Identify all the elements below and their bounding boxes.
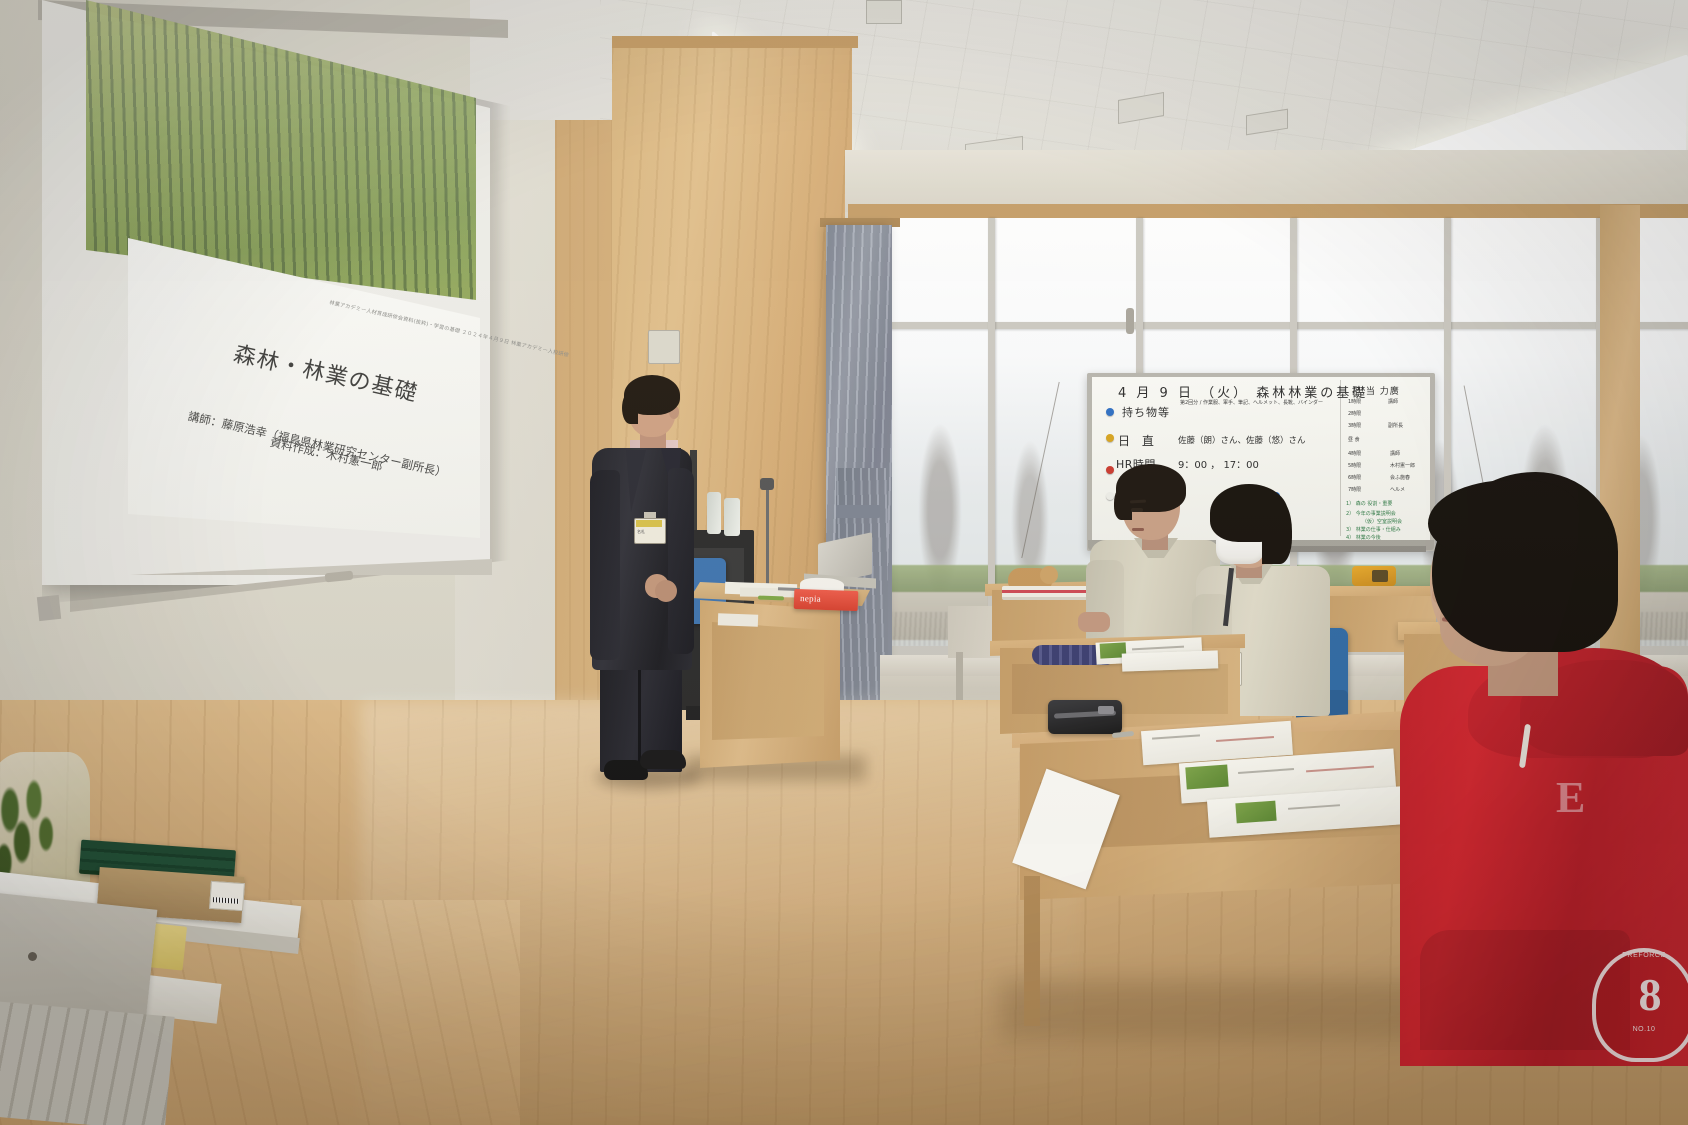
whiteboard-column-divider xyxy=(1340,380,1341,536)
classroom-photo-scene: 林業アカデミー人材育成研修会資料(抜粋)・学習の基礎 ２０２４年４月９日 林業ア… xyxy=(0,0,1688,1125)
whiteboard-green-note-1: 2） 今年の事業説明会 xyxy=(1346,510,1396,517)
pencil-case-tab xyxy=(1098,706,1114,714)
student-back-row-eye xyxy=(1131,508,1143,512)
hoodie-letter-graphic: E xyxy=(1556,772,1616,852)
schedule-period-4: 4時限 xyxy=(1348,450,1361,457)
handout-front-2-image xyxy=(1185,765,1228,790)
whiteboard-duty-header: 担 当 力廣 xyxy=(1352,384,1400,397)
tissue-box-brand-label: nepia xyxy=(800,593,856,607)
presenter-arm-left xyxy=(590,470,620,660)
presenter-hand-right xyxy=(655,580,677,602)
schedule-period-2: 3時限 xyxy=(1348,422,1361,429)
wood-column-right xyxy=(1600,205,1640,725)
whiteboard-row-value-0: 第2回分 / 作業服、軍手、筆記、ヘルメット、長靴、バインダー xyxy=(1180,400,1338,407)
schedule-period-0: 1時限 xyxy=(1348,398,1361,405)
ceiling-fixture-top xyxy=(866,0,902,24)
water-bottle-1 xyxy=(707,492,721,534)
student-back-row-hair-side xyxy=(1114,486,1132,520)
microphone-icon xyxy=(760,478,774,490)
schedule-period-1: 2時限 xyxy=(1348,410,1361,417)
magnet-blue[interactable] xyxy=(1106,408,1114,416)
hoodie-patch-top-text: PREFORCE xyxy=(1604,952,1684,968)
presenter-badge-header xyxy=(636,520,662,527)
presenter-shoe-right xyxy=(640,750,686,769)
window-header-wall xyxy=(845,150,1688,212)
handout-middle-2 xyxy=(1122,650,1219,671)
folder-edges xyxy=(0,1000,175,1125)
whiteboard-row-label-0: 持ち物等 xyxy=(1122,404,1170,420)
student-back-row-mouth xyxy=(1132,528,1144,531)
magnet-white[interactable] xyxy=(1106,492,1114,500)
book-stack xyxy=(1002,586,1090,600)
back-cabinet-leg xyxy=(956,652,963,700)
podium-front-panel xyxy=(712,622,824,740)
magnet-yellow[interactable] xyxy=(1106,434,1114,442)
schedule-note-5: 木村憲一郎 xyxy=(1390,462,1415,469)
cardboard-box-label xyxy=(209,881,245,911)
plush-toy-head xyxy=(1040,566,1058,584)
slide-title: 森林・林業の基礎 xyxy=(231,336,421,408)
schedule-period-3: 昼 食 xyxy=(1348,436,1360,443)
podium-green-marker xyxy=(758,596,784,601)
student-back-row-arm xyxy=(1086,560,1124,650)
yellow-pouch-detail xyxy=(1372,570,1388,582)
hoodie-patch-bottom-text: NO.10 xyxy=(1610,1026,1678,1040)
podium-label-card xyxy=(718,613,758,626)
presenter-leg-seam xyxy=(638,660,641,770)
schedule-period-7: 7時限 xyxy=(1348,486,1361,493)
whiteboard-green-note-0: 1） 森の 役割・重要 xyxy=(1346,500,1392,507)
water-bottle-2 xyxy=(724,498,740,536)
window-handle-1[interactable] xyxy=(1126,308,1134,334)
whiteboard-row-label-1: 日 直 xyxy=(1118,432,1158,449)
microphone-stand xyxy=(766,485,769,585)
presenter-hair-side xyxy=(622,392,638,424)
folder-hole xyxy=(28,952,37,961)
schedule-note-2: 副所長 xyxy=(1388,422,1403,429)
student-masked-hair-side xyxy=(1262,498,1292,564)
schedule-note-4: 講師 xyxy=(1390,450,1400,457)
whiteboard-green-note-3: 3） 林業の仕事・仕組み xyxy=(1346,526,1401,533)
presenter-badge-text: 名札 xyxy=(637,529,661,539)
whiteboard-row-value-1: 佐藤（朗）さん、佐藤（悠）さん xyxy=(1178,434,1306,446)
presenter-arm-right xyxy=(668,468,694,654)
whiteboard-date-line: 4 月 9 日 （火） 森林林業の基礎 xyxy=(1118,382,1368,401)
schedule-period-6: 6時限 xyxy=(1348,474,1361,481)
student-back-row-hands xyxy=(1078,612,1110,632)
wall-plate xyxy=(648,330,680,364)
schedule-note-0: 講師 xyxy=(1388,398,1398,405)
schedule-note-7: ヘルメ xyxy=(1390,486,1405,493)
magnet-red[interactable] xyxy=(1106,466,1114,474)
screen-left-mount xyxy=(37,595,61,621)
hoodie-patch-number: 8 xyxy=(1622,968,1678,1028)
window-top-trim xyxy=(848,204,1688,218)
whiteboard-row-value-2: 9：00 ， 17：00 xyxy=(1178,456,1259,471)
schedule-note-6: 会ふ施春 xyxy=(1390,474,1410,481)
desk-front-leg-left xyxy=(1024,876,1040,1026)
handout-front-3-image xyxy=(1235,801,1276,824)
slide-text-block: 林業アカデミー人材育成研修会資料(抜粋)・学習の基礎 ２０２４年４月９日 林業ア… xyxy=(130,238,480,538)
curtain-tieback[interactable] xyxy=(836,505,880,518)
schedule-period-5: 5時限 xyxy=(1348,462,1361,469)
whiteboard-green-note-2: （仮）空室説明会 xyxy=(1362,518,1402,525)
wood-trim xyxy=(612,36,858,48)
window-mullion-h1 xyxy=(880,322,1688,329)
